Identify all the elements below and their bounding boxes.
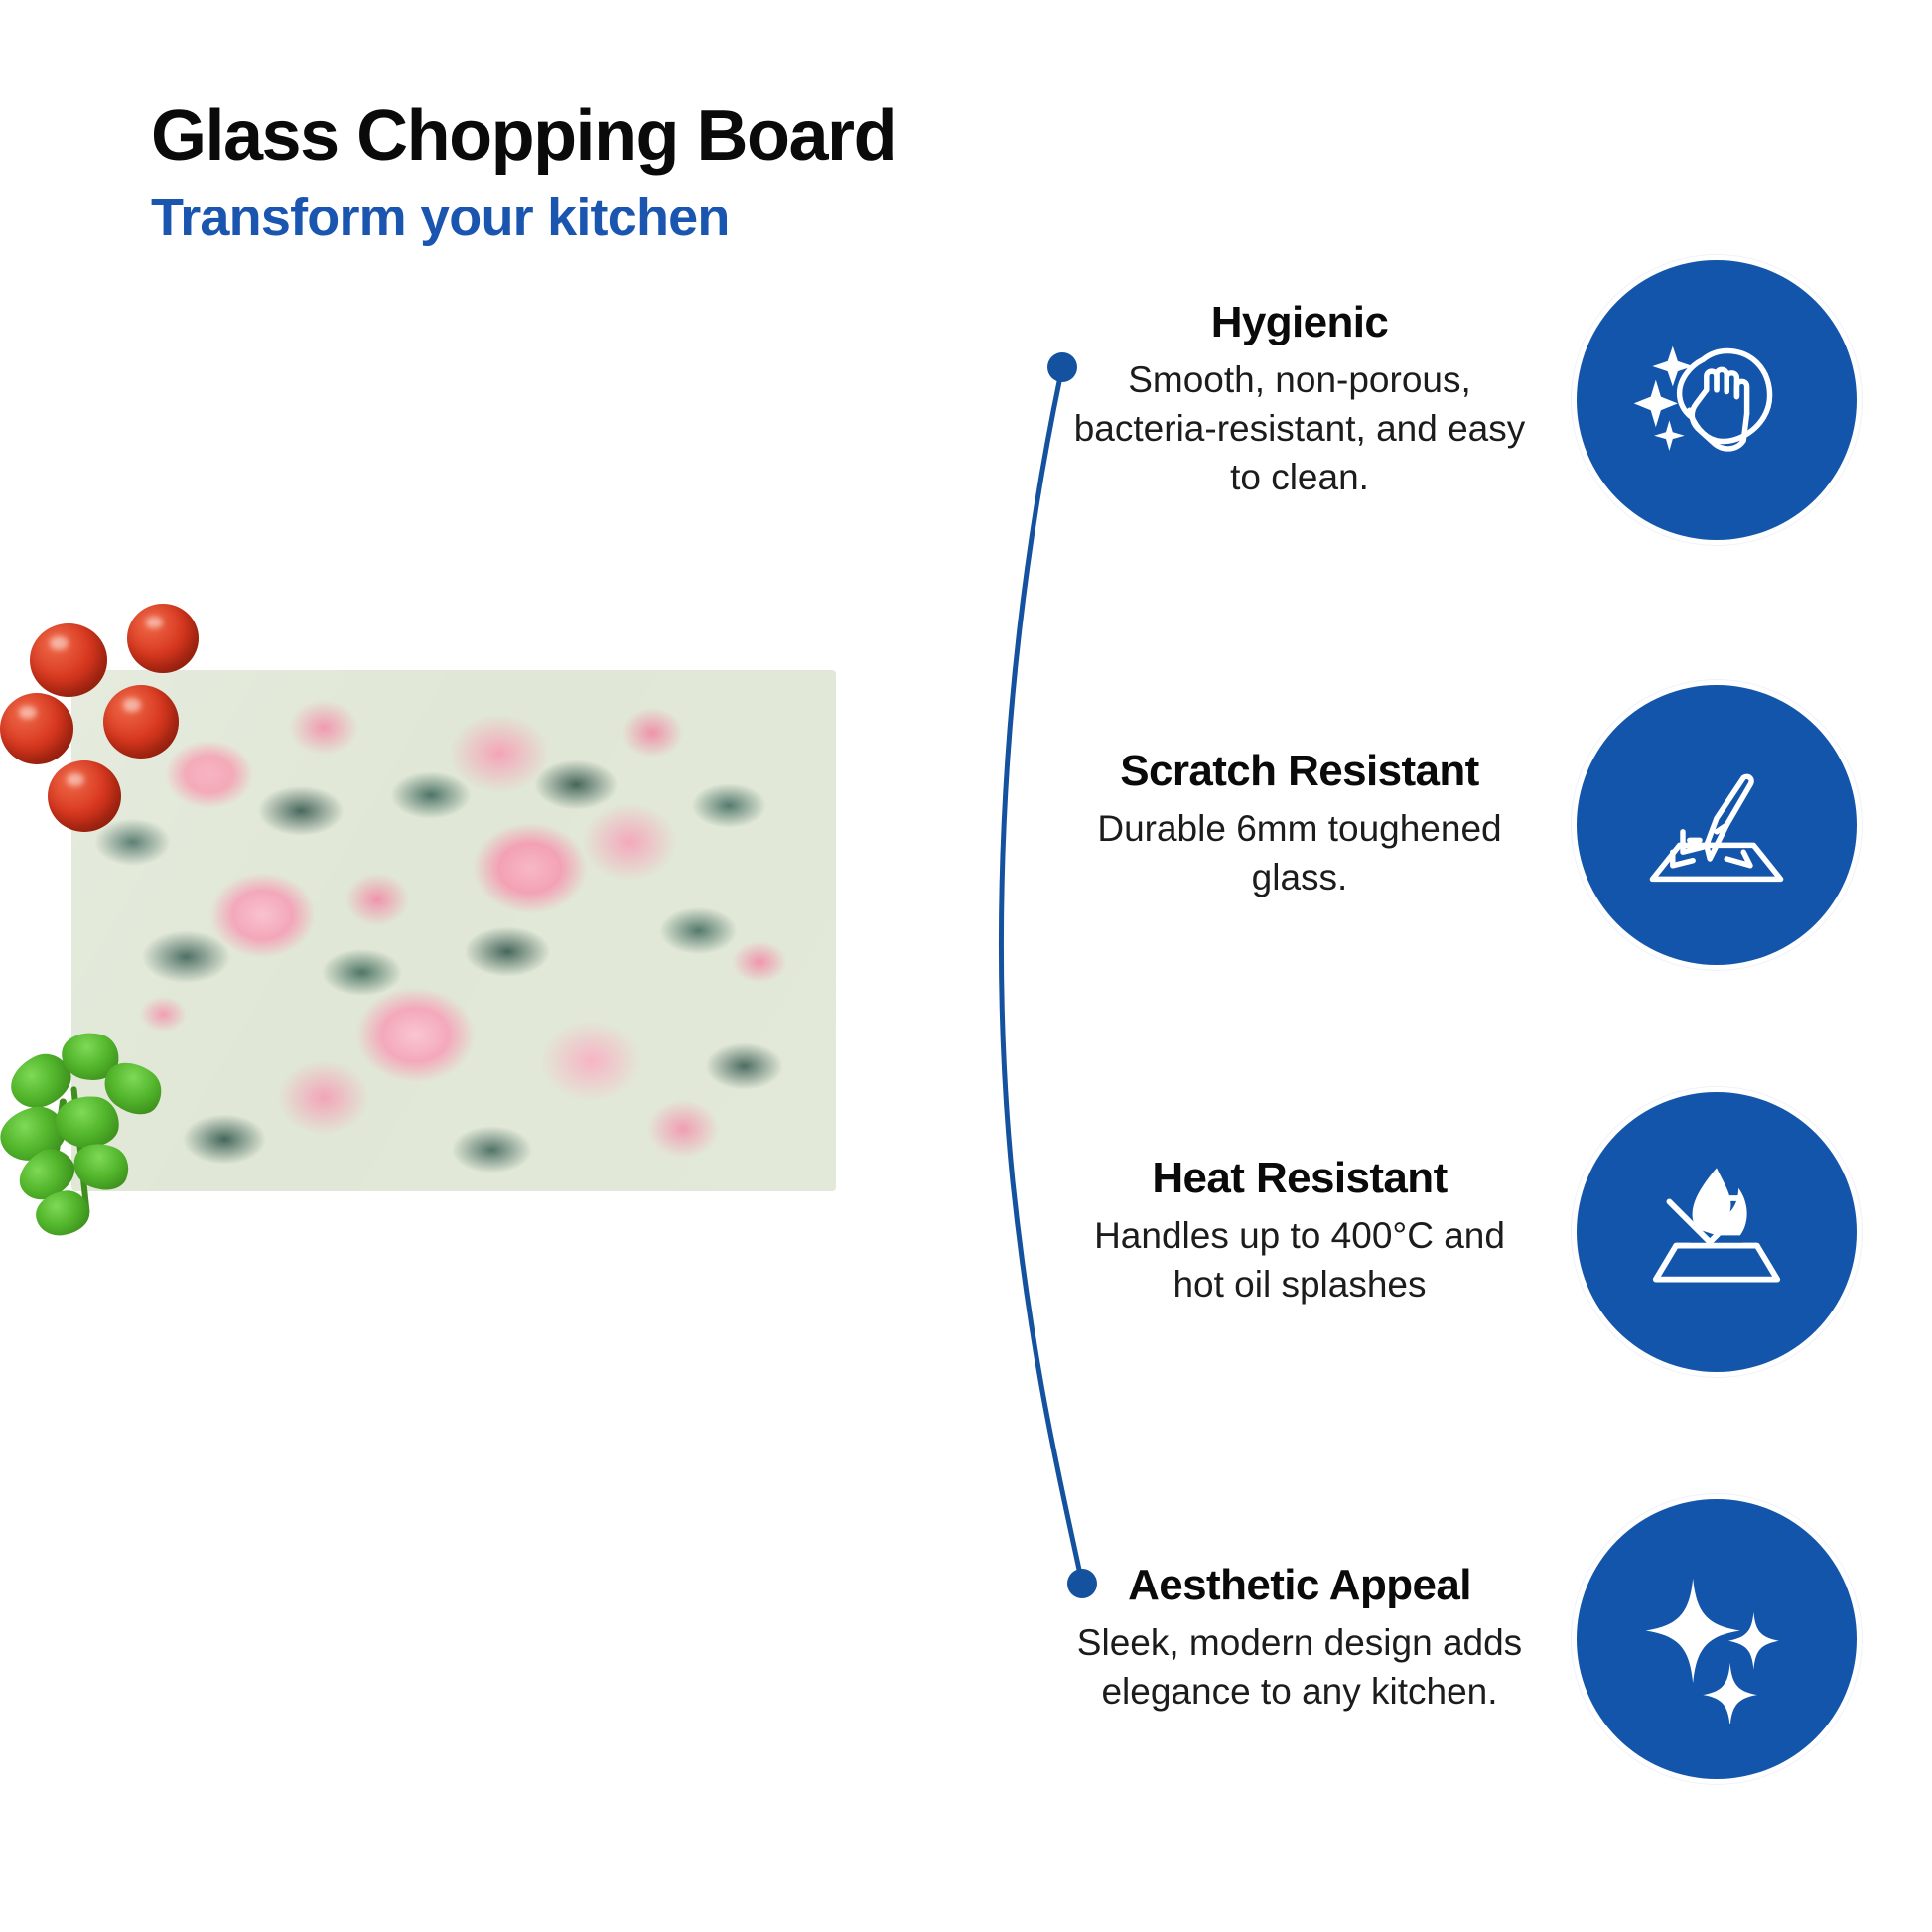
product-image (0, 596, 854, 1291)
feature-description: Handles up to 400°C and hot oil splashes (1066, 1212, 1533, 1310)
feature-title: Hygienic (1066, 299, 1533, 346)
feature-title: Scratch Resistant (1066, 748, 1533, 795)
page-title: Glass Chopping Board (151, 99, 1243, 175)
hand-wiping-sparkle-icon (1577, 260, 1857, 540)
parsley-sprig (0, 1013, 189, 1241)
feature-aesthetic-appeal: Aesthetic Appeal Sleek, modern design ad… (1033, 1499, 1857, 1779)
feature-title: Aesthetic Appeal (1066, 1562, 1533, 1609)
sparkles-icon (1577, 1499, 1857, 1779)
feature-heat-resistant: Heat Resistant Handles up to 400°C and h… (1033, 1092, 1857, 1372)
feature-text: Heat Resistant Handles up to 400°C and h… (1066, 1155, 1533, 1310)
cherry-tomato (30, 623, 107, 697)
cherry-tomato (103, 685, 179, 759)
feature-text: Scratch Resistant Durable 6mm toughened … (1066, 748, 1533, 902)
feature-title: Heat Resistant (1066, 1155, 1533, 1202)
header: Glass Chopping Board Transform your kitc… (151, 99, 1243, 247)
feature-hygienic: Hygienic Smooth, non-porous, bacteria-re… (1033, 260, 1857, 540)
page-subtitle: Transform your kitchen (151, 189, 1243, 247)
cherry-tomato (0, 693, 73, 764)
feature-text: Hygienic Smooth, non-porous, bacteria-re… (1066, 299, 1533, 502)
feature-text: Aesthetic Appeal Sleek, modern design ad… (1066, 1562, 1533, 1717)
feature-scratch-resistant: Scratch Resistant Durable 6mm toughened … (1033, 685, 1857, 965)
cherry-tomato (127, 604, 199, 673)
connector-line (993, 367, 1211, 1658)
feature-description: Durable 6mm toughened glass. (1066, 805, 1533, 902)
feature-description: Sleek, modern design adds elegance to an… (1066, 1619, 1533, 1717)
feature-description: Smooth, non-porous, bacteria-resistant, … (1066, 356, 1533, 501)
connector-path (1001, 367, 1082, 1584)
cherry-tomato (48, 760, 121, 832)
flame-heat-deflect-icon (1577, 1092, 1857, 1372)
knife-cutting-board-icon (1577, 685, 1857, 965)
